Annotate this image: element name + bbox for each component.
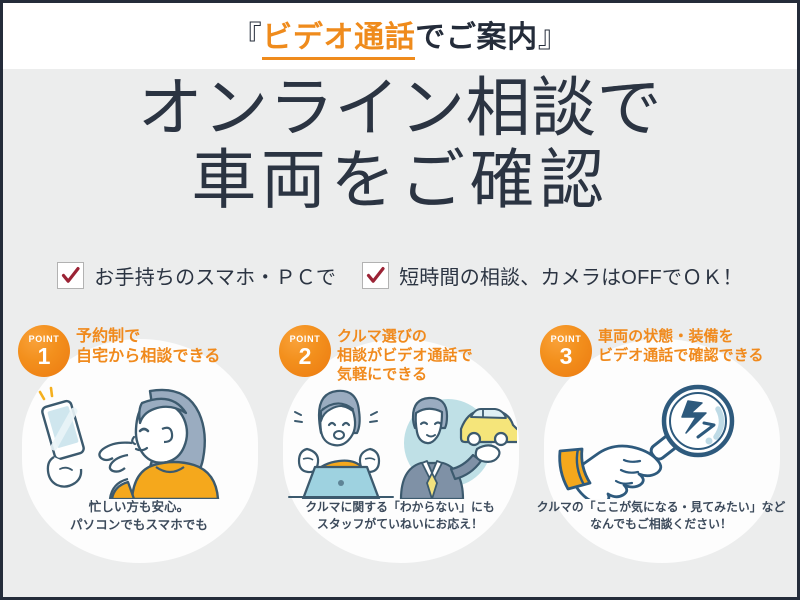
feature-check-item-1: お手持ちのスマホ・ＰＣで (57, 261, 336, 290)
point-3-caption: クルマの「ここが気になる・見てみたい」など なんでもご相談ください！ (534, 499, 788, 533)
feature-check-label-2: 短時間の相談、カメラはOFFでＯＫ！ (399, 261, 743, 290)
point-1-caption-line-1: 忙しい方も安心。 (12, 499, 266, 517)
feature-check-label-1: お手持ちのスマホ・ＰＣで (94, 261, 336, 290)
point-2-badge-number: 2 (299, 345, 312, 368)
point-3-badge: POINT 3 (540, 325, 592, 377)
point-2-title: クルマ選びの 相談がビデオ通話で 気軽にできる (337, 327, 527, 385)
kicker-text: 『ビデオ通話でご案内』 (232, 12, 569, 60)
feature-check-row: お手持ちのスマホ・ＰＣで 短時間の相談、カメラはOFFでＯＫ！ (3, 261, 797, 290)
page-title: オンライン相談で 車両をご確認 (3, 75, 797, 214)
point-2-caption: クルマに関する「わからない」にも スタッフがていねいにお応え！ (273, 499, 527, 533)
point-3-caption-line-1: クルマの「ここが気になる・見てみたい」など (534, 499, 788, 516)
point-2-badge: POINT 2 (279, 325, 331, 377)
points-row: POINT 1 予約制で 自宅から相談できる (3, 325, 797, 563)
point-3-caption-line-2: なんでもご相談ください！ (534, 516, 788, 533)
point-1-title-line-1: 予約制で (76, 327, 266, 347)
checkbox-checked-icon (362, 262, 389, 289)
headline-line-1: オンライン相談で (3, 75, 797, 141)
kicker-strip: 『ビデオ通話でご案内』 (3, 3, 797, 69)
hand-holding-magnifier-illustration (546, 383, 778, 499)
feature-check-item-2: 短時間の相談、カメラはOFFでＯＫ！ (362, 261, 743, 290)
point-3-title: 車両の状態・装備を ビデオ通話で確認できる (598, 327, 788, 365)
promo-banner: 『ビデオ通話でご案内』 オンライン相談で 車両をご確認 お手持ちのスマホ・ＰＣで… (0, 0, 800, 600)
point-1-title-line-2: 自宅から相談できる (76, 347, 266, 367)
kicker-rest: でご案内 (415, 12, 537, 56)
headline-line-2: 車両をご確認 (3, 147, 797, 213)
point-2-caption-line-1: クルマに関する「わからない」にも (273, 499, 527, 516)
point-3-title-line-2: ビデオ通話で確認できる (598, 346, 788, 365)
kicker-highlight: ビデオ通話 (262, 12, 415, 60)
point-1-badge-number: 1 (38, 345, 51, 368)
woman-laptop-and-staff-with-car-illustration (285, 387, 517, 499)
point-1-badge: POINT 1 (18, 325, 70, 377)
point-card-2: POINT 2 クルマ選びの 相談がビデオ通話で 気軽にできる (273, 325, 527, 563)
point-2-title-line-2: 相談がビデオ通話で (337, 346, 527, 365)
point-1-caption: 忙しい方も安心。 パソコンでもスマホでも (12, 499, 266, 535)
point-card-3: POINT 3 車両の状態・装備を ビデオ通話で確認できる (534, 325, 788, 563)
point-1-title: 予約制で 自宅から相談できる (76, 327, 266, 368)
point-card-1: POINT 1 予約制で 自宅から相談できる (12, 325, 266, 563)
kicker-open-bracket: 『 (232, 12, 263, 56)
point-2-title-line-1: クルマ選びの (337, 327, 527, 346)
woman-with-smartphone-illustration (24, 381, 256, 499)
checkbox-checked-icon (57, 262, 84, 289)
point-1-caption-line-2: パソコンでもスマホでも (12, 517, 266, 535)
kicker-close-bracket: 』 (538, 12, 569, 56)
point-2-caption-line-2: スタッフがていねいにお応え！ (273, 516, 527, 533)
point-2-title-line-3: 気軽にできる (337, 365, 527, 384)
point-3-title-line-1: 車両の状態・装備を (598, 327, 788, 346)
point-3-badge-number: 3 (560, 345, 573, 368)
